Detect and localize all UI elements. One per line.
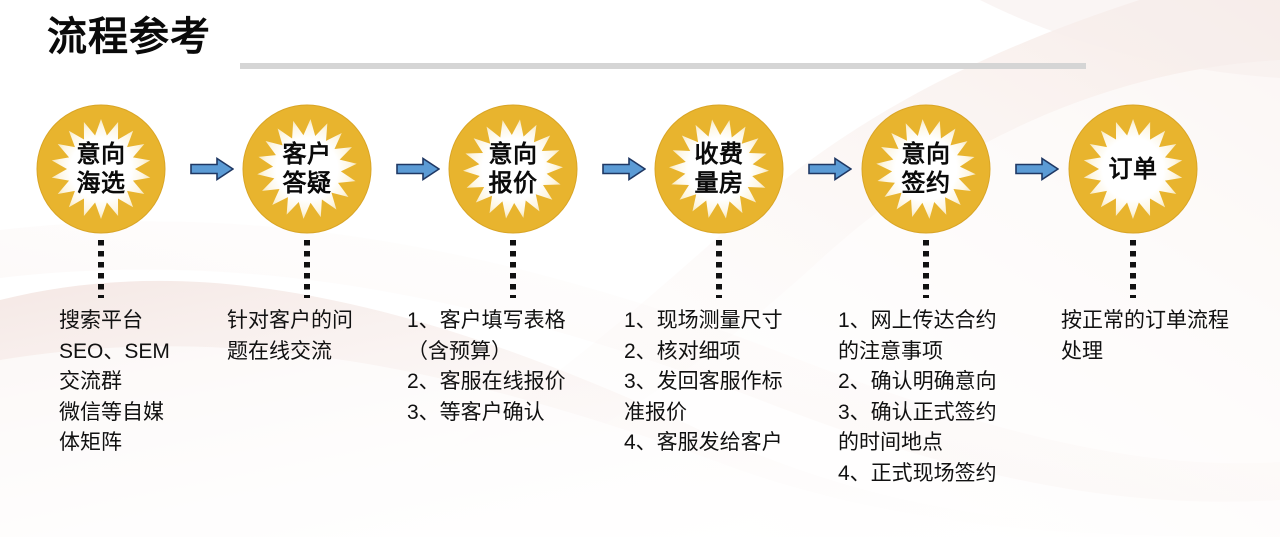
detail-line: 4、正式现场签约 bbox=[838, 459, 997, 490]
flow-node-5[interactable]: 意向签约 bbox=[860, 103, 992, 235]
detail-line: 按正常的订单流程 bbox=[1061, 306, 1229, 337]
detail-line: 1、现场测量尺寸 bbox=[624, 306, 783, 337]
dotted-connector-5 bbox=[923, 240, 929, 298]
flow-node-label-line: 订单 bbox=[1109, 155, 1158, 184]
detail-line: SEO、SEM bbox=[59, 337, 170, 368]
detail-column-1: 搜索平台SEO、SEM交流群微信等自媒体矩阵 bbox=[59, 306, 170, 459]
detail-column-3: 1、客户填写表格（含预算）2、客服在线报价3、等客户确认 bbox=[407, 306, 566, 428]
process-flow: 意向海选 客户答疑 意向报价 bbox=[0, 103, 1280, 235]
flow-node-label-line: 意向 bbox=[489, 140, 538, 169]
flow-node-label-line: 签约 bbox=[902, 169, 951, 198]
detail-line: 1、客户填写表格 bbox=[407, 306, 566, 337]
flow-node-6[interactable]: 订单 bbox=[1067, 103, 1199, 235]
detail-column-4: 1、现场测量尺寸2、核对细项3、发回客服作标准报价4、客服发给客户 bbox=[624, 306, 783, 459]
flow-node-label-line: 客户 bbox=[283, 140, 332, 169]
detail-line: 3、确认正式签约 bbox=[838, 398, 997, 429]
detail-line: 的注意事项 bbox=[838, 337, 997, 368]
slide-canvas: 流程参考 意向海选 客户答疑 bbox=[0, 0, 1280, 537]
detail-line: 的时间地点 bbox=[838, 428, 997, 459]
flow-node-label: 意向签约 bbox=[860, 103, 992, 235]
flow-node-label: 订单 bbox=[1067, 103, 1199, 235]
flow-node-4[interactable]: 收费量房 bbox=[653, 103, 785, 235]
detail-line: 准报价 bbox=[624, 398, 783, 429]
flow-arrow-right-icon-2 bbox=[396, 157, 440, 181]
dotted-connector-4 bbox=[716, 240, 722, 298]
detail-line: 题在线交流 bbox=[227, 337, 353, 368]
flow-arrow-right-icon-1 bbox=[190, 157, 234, 181]
flow-arrow-right-icon-3 bbox=[602, 157, 646, 181]
flow-node-label-line: 量房 bbox=[695, 169, 744, 198]
flow-node-label: 客户答疑 bbox=[241, 103, 373, 235]
detail-column-2: 针对客户的问题在线交流 bbox=[227, 306, 353, 367]
dotted-connector-3 bbox=[510, 240, 516, 298]
flow-node-1[interactable]: 意向海选 bbox=[35, 103, 167, 235]
detail-line: 1、网上传达合约 bbox=[838, 306, 997, 337]
detail-line: 2、客服在线报价 bbox=[407, 367, 566, 398]
flow-node-label-line: 答疑 bbox=[283, 169, 332, 198]
detail-line: （含预算） bbox=[407, 337, 566, 368]
detail-line: 3、等客户确认 bbox=[407, 398, 566, 429]
detail-line: 4、客服发给客户 bbox=[624, 428, 783, 459]
detail-line: 交流群 bbox=[59, 367, 170, 398]
detail-column-5: 1、网上传达合约的注意事项2、确认明确意向3、确认正式签约的时间地点4、正式现场… bbox=[838, 306, 997, 489]
detail-line: 搜索平台 bbox=[59, 306, 170, 337]
detail-line: 针对客户的问 bbox=[227, 306, 353, 337]
detail-line: 体矩阵 bbox=[59, 428, 170, 459]
dotted-connector-6 bbox=[1130, 240, 1136, 298]
flow-node-3[interactable]: 意向报价 bbox=[447, 103, 579, 235]
detail-line: 3、发回客服作标 bbox=[624, 367, 783, 398]
title-divider-rule bbox=[240, 63, 1086, 69]
dotted-connector-1 bbox=[98, 240, 104, 298]
flow-node-label-line: 意向 bbox=[902, 140, 951, 169]
flow-node-label: 意向海选 bbox=[35, 103, 167, 235]
flow-node-label: 收费量房 bbox=[653, 103, 785, 235]
detail-line: 处理 bbox=[1061, 337, 1229, 368]
detail-column-6: 按正常的订单流程处理 bbox=[1061, 306, 1229, 367]
flow-arrow-right-icon-5 bbox=[1015, 157, 1059, 181]
flow-node-label: 意向报价 bbox=[447, 103, 579, 235]
detail-line: 2、核对细项 bbox=[624, 337, 783, 368]
flow-node-label-line: 意向 bbox=[77, 140, 126, 169]
flow-node-label-line: 收费 bbox=[695, 140, 744, 169]
flow-node-2[interactable]: 客户答疑 bbox=[241, 103, 373, 235]
detail-line: 2、确认明确意向 bbox=[838, 367, 997, 398]
page-title: 流程参考 bbox=[47, 13, 211, 61]
flow-node-label-line: 海选 bbox=[77, 169, 126, 198]
detail-line: 微信等自媒 bbox=[59, 398, 170, 429]
dotted-connector-2 bbox=[304, 240, 310, 298]
flow-node-label-line: 报价 bbox=[489, 169, 538, 198]
flow-arrow-right-icon-4 bbox=[808, 157, 852, 181]
